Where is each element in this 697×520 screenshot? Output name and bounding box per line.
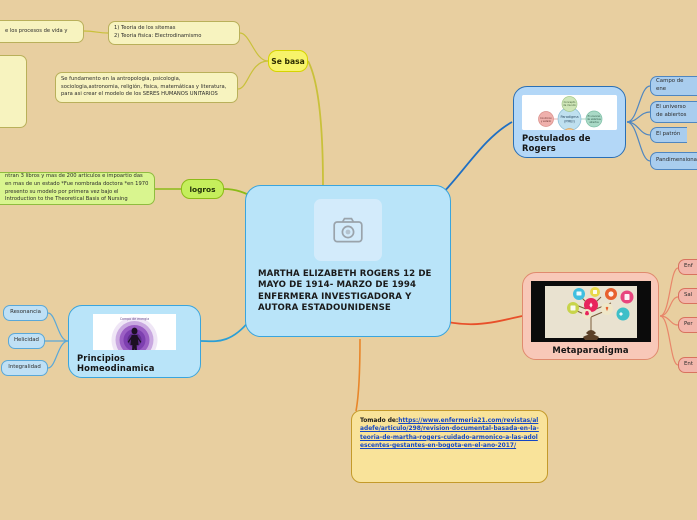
metaparadigma-child-enfermeria[interactable]: Enf [678, 259, 697, 275]
node-principios-homeodinamica[interactable]: Campo de energia humano Principios Homeo… [68, 305, 201, 378]
tree-infographic-image [531, 281, 651, 342]
homeodinamica-child-resonancia[interactable]: Resonancia [3, 305, 48, 321]
homeodinamica-child-integralidad[interactable]: Integralidad [1, 360, 48, 376]
branch-logros[interactable]: logros [181, 179, 224, 199]
postulados-caption: Postulados de Rogers [522, 133, 617, 153]
metaparadigma-child-entorno[interactable]: Ent [678, 357, 697, 373]
source-link-box[interactable]: Tomado de:https://www.enfermeria21.com/r… [351, 410, 548, 483]
postulados-child-universo[interactable]: El universo de abiertos [650, 101, 697, 123]
source-prefix: Tomado de: [360, 418, 398, 424]
central-node[interactable]: MARTHA ELIZABETH ROGERS 12 DE MAYO DE 19… [245, 185, 451, 337]
homeodinamica-child-helicidad[interactable]: Helicidad [8, 333, 45, 349]
central-title: MARTHA ELIZABETH ROGERS 12 DE MAYO DE 19… [258, 269, 438, 315]
camera-icon [314, 199, 382, 261]
svg-text:(PMEI): (PMEI) [564, 120, 575, 124]
se-basa-child-procesos[interactable]: e los procesos de vida y [0, 20, 84, 43]
svg-text:Paradigma: Paradigma [560, 115, 578, 119]
logros-child-detalle[interactable]: ntran 3 libros y mas de 200 articulos e … [0, 172, 155, 205]
purple-aura-figure-image: Campo de energia humano [93, 314, 176, 350]
se-basa-child-fundamento[interactable]: Se fundamento en la antropologia, psicol… [55, 72, 238, 103]
svg-text:y estado: y estado [541, 120, 552, 123]
se-basa-child-teorias[interactable]: 1) Teoria de los sitemas 2) Teoria fisic… [108, 21, 240, 45]
node-metaparadigma[interactable]: Metaparadigma [522, 272, 659, 360]
mindmap-canvas: MARTHA ELIZABETH ROGERS 12 DE MAYO DE 19… [0, 0, 697, 520]
postulados-child-campo[interactable]: Campo de ene [650, 76, 697, 96]
metaparadigma-child-salud[interactable]: Sal [678, 288, 697, 304]
branch-se-basa[interactable]: Se basa [268, 50, 308, 72]
postulados-child-patron[interactable]: El patrón [650, 127, 687, 143]
svg-text:Campo de energia: Campo de energia [120, 317, 149, 321]
svg-text:abiertos: abiertos [589, 121, 599, 124]
homeodinamica-caption: Principios Homeodinamica [77, 353, 192, 373]
se-basa-child-clipped-left[interactable] [0, 55, 27, 128]
svg-text:de mundo: de mundo [563, 103, 576, 107]
postulados-child-pandimensional[interactable]: Pandimensiona [650, 152, 697, 170]
node-postulados-de-rogers[interactable]: Paradigma (PMEI) Concepto de mundo Condi… [513, 86, 626, 158]
paradigma-diagram-image: Paradigma (PMEI) Concepto de mundo Condi… [522, 95, 617, 130]
metaparadigma-caption: Metaparadigma [552, 345, 628, 355]
metaparadigma-child-persona[interactable]: Per [678, 317, 697, 333]
